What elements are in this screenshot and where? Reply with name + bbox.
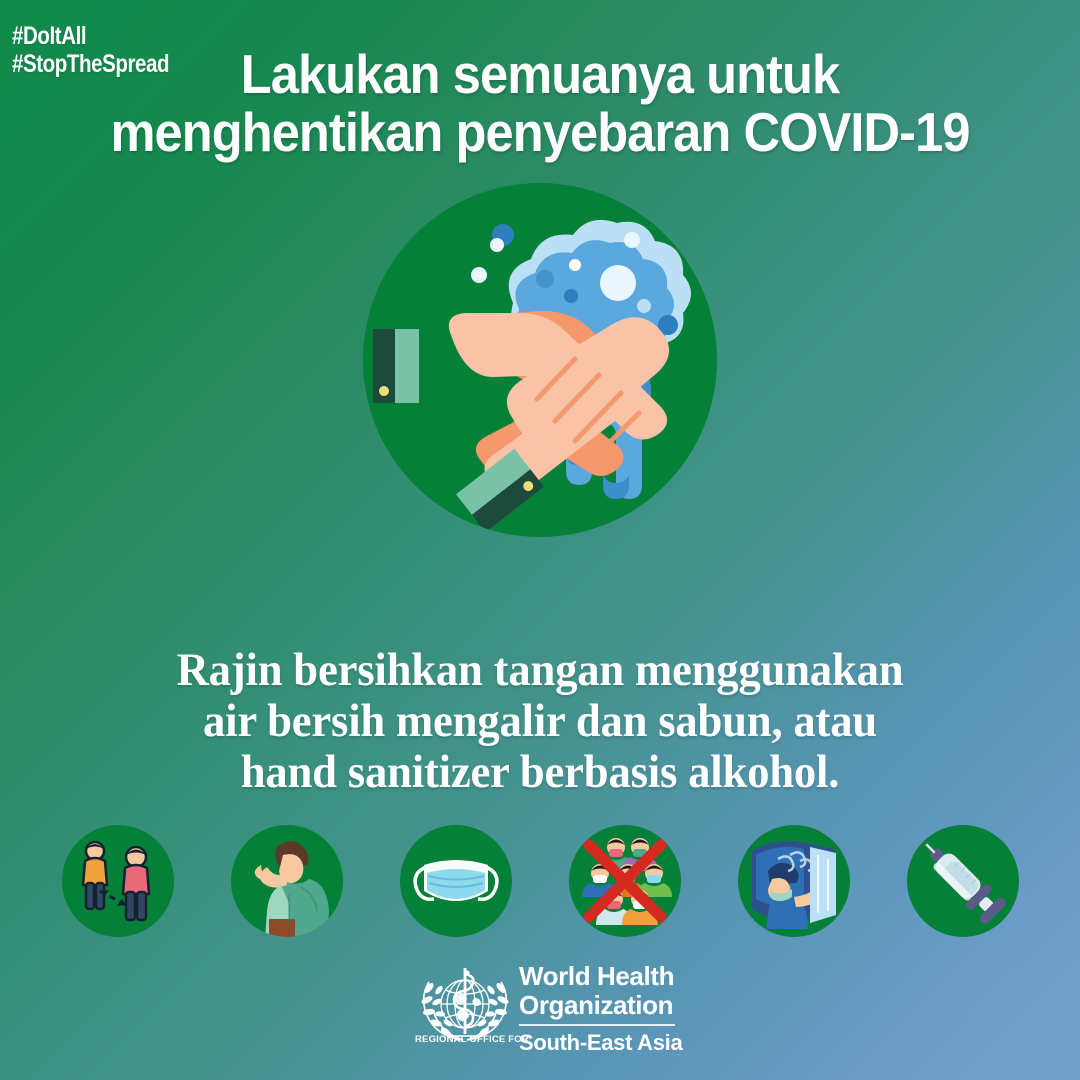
person-right xyxy=(123,847,149,920)
who-wordmark: World Health Organization xyxy=(519,962,674,1020)
ventilation-icon xyxy=(738,825,850,937)
trousers xyxy=(269,919,295,937)
who-line-1: World Health xyxy=(519,962,674,991)
headline-line-1: Lakukan semuanya untuk xyxy=(43,45,1037,103)
sleeve-cuff-left xyxy=(373,329,419,403)
person-left xyxy=(83,842,107,909)
face-mask-icon xyxy=(400,825,512,937)
page-title: Lakukan semuanya untuk menghentikan peny… xyxy=(0,45,1080,161)
who-regional-office-label: REGIONAL OFFICE FOR xyxy=(415,1034,513,1046)
body-message: Rajin bersihkan tangan menggunakan air b… xyxy=(60,645,1020,798)
who-line-2: Organization xyxy=(519,991,674,1020)
handwashing-illustration xyxy=(363,183,717,537)
cough-into-elbow-icon xyxy=(231,825,343,937)
who-region-name: South-East Asia xyxy=(519,1030,682,1055)
syringe xyxy=(915,833,1008,926)
headline-line-2: menghentikan penyebaran COVID-19 xyxy=(43,103,1037,161)
body-line-2: air bersih mengalir dan sabun, atau xyxy=(84,696,996,747)
body-line-1: Rajin bersihkan tangan menggunakan xyxy=(84,645,996,696)
handwashing-icon xyxy=(363,183,717,537)
body-line-3: hand sanitizer berbasis alkohol. xyxy=(84,747,996,798)
who-logo: World Health Organization REGIONAL OFFIC… xyxy=(415,962,675,1068)
vaccination-icon xyxy=(907,825,1019,937)
poster-canvas: #DoItAll #StopTheSpread Lakukan semuanya… xyxy=(0,0,1080,1080)
physical-distancing-icon xyxy=(62,825,174,937)
prevention-icon-row xyxy=(62,825,1018,937)
window-pane xyxy=(810,847,836,923)
avoid-crowds-icon xyxy=(569,825,681,937)
who-divider xyxy=(519,1024,675,1026)
